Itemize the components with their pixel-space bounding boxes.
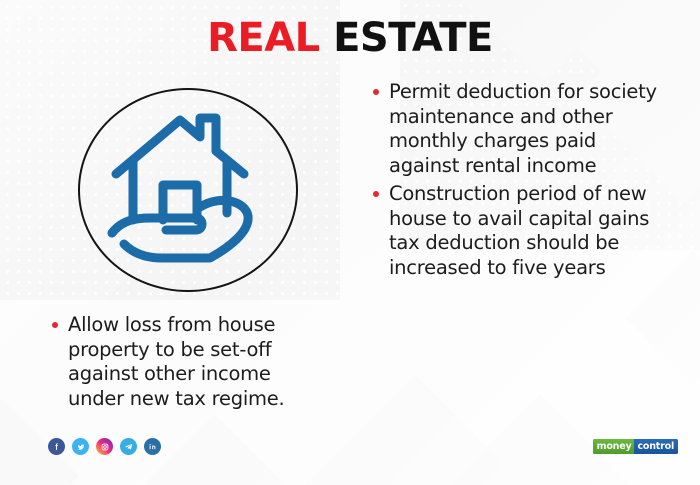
title-word-estate: ESTATE (333, 15, 493, 61)
page-title: REAL ESTATE (0, 18, 700, 58)
logo-text-control: control (634, 439, 678, 454)
social-links-row (48, 438, 161, 455)
telegram-icon[interactable] (120, 438, 137, 455)
bullet-dot-icon (373, 191, 379, 197)
facebook-icon[interactable] (48, 438, 65, 455)
icon-circle-frame (78, 88, 298, 292)
bullet-dot-icon (373, 89, 379, 95)
moneycontrol-logo[interactable]: money control (593, 439, 678, 454)
list-item: Construction period of new house to avai… (373, 182, 663, 280)
instagram-icon[interactable] (96, 438, 113, 455)
bullet-dot-icon (52, 322, 58, 328)
right-bullet-list: Permit deduction for society maintenance… (373, 80, 663, 280)
linkedin-icon[interactable] (144, 438, 161, 455)
list-item-text: Construction period of new house to avai… (389, 182, 649, 279)
list-item-text: Allow loss from house property to be set… (68, 313, 284, 410)
title-word-real: REAL (207, 15, 320, 61)
list-item: Allow loss from house property to be set… (52, 313, 314, 411)
logo-text-money: money (593, 439, 635, 454)
house-in-hand-icon (100, 110, 276, 270)
list-item-text: Permit deduction for society maintenance… (389, 80, 657, 177)
infographic-card: REAL ESTATE Permit deduction f (0, 0, 700, 485)
left-bullet-list: Allow loss from house property to be set… (52, 313, 314, 411)
list-item: Permit deduction for society maintenance… (373, 80, 663, 178)
twitter-icon[interactable] (72, 438, 89, 455)
